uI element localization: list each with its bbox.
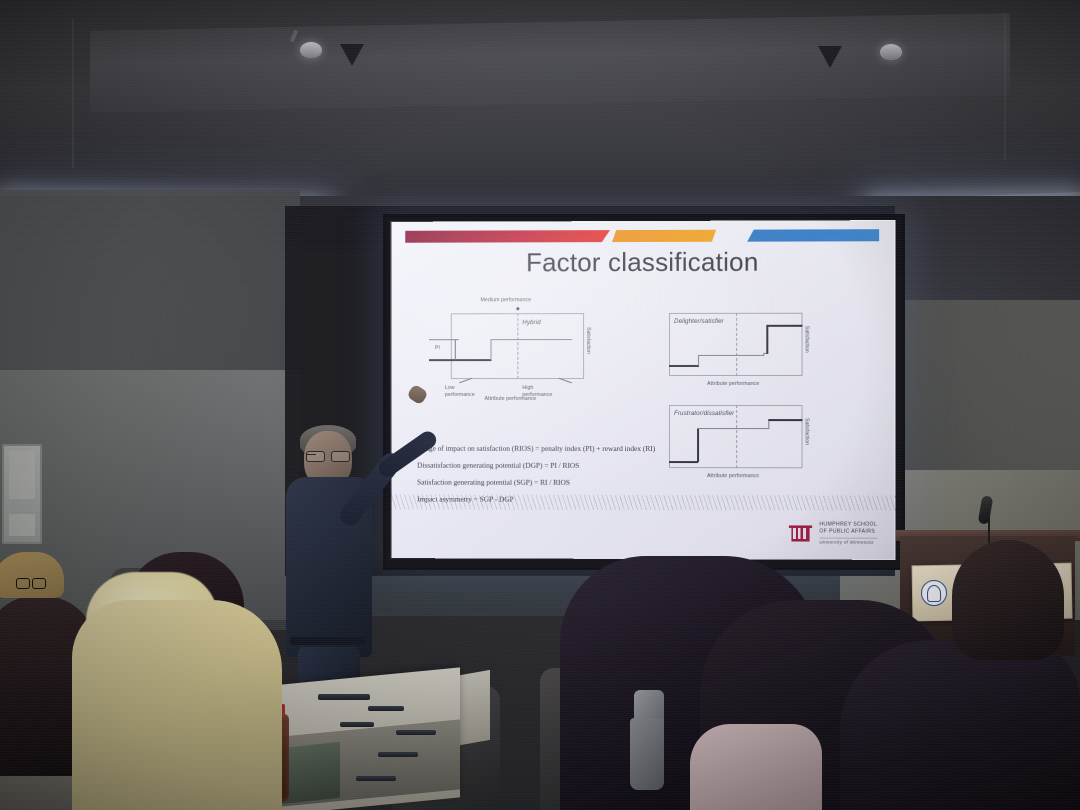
slide-title: Factor classification xyxy=(391,246,895,278)
desk-microphone-3 xyxy=(396,730,436,735)
presentation-slide: Factor classification Medium performance… xyxy=(391,220,895,560)
university-of-minnesota-m-logo xyxy=(787,522,813,544)
umn-line2: OF PUBLIC AFFAIRS xyxy=(819,529,877,537)
chart-frustrator-segment-3 xyxy=(768,419,802,421)
chart-delighter-curve-label: Delighter/satisfier xyxy=(674,318,724,325)
chart-hybrid-pi-label: PI xyxy=(435,345,440,351)
slide-hatched-band xyxy=(391,494,895,510)
presenter xyxy=(276,425,380,715)
spotlight-right xyxy=(880,44,902,60)
presenter-belt xyxy=(290,637,366,645)
umn-line1: HUMPHREY SCHOOL xyxy=(819,521,877,529)
banner-band-red xyxy=(405,230,610,243)
chart-frustrator-curve-label: Frustrator/dissatisfier xyxy=(674,410,734,417)
chart-hybrid-pi-bracket xyxy=(455,339,456,360)
formula-rios: Range of impact on satisfaction (RIOS) =… xyxy=(417,445,847,453)
slide-top-banner xyxy=(405,229,879,243)
chart-hybrid-left-tick-label: Low performance xyxy=(445,385,483,398)
formula-dgp: Dissatisfaction generating potential (DG… xyxy=(417,462,847,470)
chart-delighter-riser-1 xyxy=(698,355,699,366)
chart-hybrid-x-axis-label: Attribute performance xyxy=(485,396,537,402)
chart-delighter-segment-2 xyxy=(698,355,764,356)
ceiling-speaker-right xyxy=(818,46,842,68)
ceiling-seam-right xyxy=(1004,14,1006,160)
chart-frustrator-y-axis-label: Satisfaction xyxy=(804,418,810,445)
spotlight-left xyxy=(300,42,322,58)
desk-microphone-4 xyxy=(378,752,418,757)
chart-delighter-medium-line xyxy=(736,313,737,376)
slide-footer-logo: HUMPHREY SCHOOL OF PUBLIC AFFAIRS Univer… xyxy=(787,521,877,545)
ceiling-seam-left xyxy=(72,18,74,168)
formula-sgp: Satisfaction generating potential (SGP) … xyxy=(417,478,847,486)
banner-logo-circular xyxy=(921,580,947,606)
banner-band-orange xyxy=(612,230,716,242)
chart-hybrid-medium-line xyxy=(517,313,518,379)
chart-delighter-y-axis-label: Satisfaction xyxy=(804,326,810,353)
chart-hybrid-segment-low xyxy=(429,359,492,361)
chart-delighter-segment-1 xyxy=(669,365,699,367)
chart-hybrid-top-marker xyxy=(516,307,519,310)
umn-wordmark: HUMPHREY SCHOOL OF PUBLIC AFFAIRS Univer… xyxy=(819,521,877,545)
chart-hybrid-y-axis-label: Satisfaction xyxy=(585,327,591,354)
chart-hybrid: Medium performance Hybrid PI Low perform… xyxy=(451,313,584,379)
chart-hybrid-riser xyxy=(491,339,492,360)
chart-delighter-segment-4 xyxy=(766,325,802,327)
desk-microphone-6 xyxy=(318,694,370,700)
notice-board-sheet-lower xyxy=(9,514,35,536)
chart-hybrid-segment-high xyxy=(491,339,573,340)
projection-screen: Factor classification Medium performance… xyxy=(383,214,905,570)
chart-hybrid-top-label: Medium performance xyxy=(481,297,532,303)
audience-person-left-hat xyxy=(0,552,64,598)
audience-pink-garment xyxy=(690,724,822,810)
banner-band-blue xyxy=(747,229,879,241)
desk-microphone-1 xyxy=(368,706,404,711)
notice-board-sheet-upper xyxy=(9,451,35,499)
audience-person-far-right xyxy=(952,540,1064,660)
presenter-glasses-icon xyxy=(306,451,350,460)
chart-delighter-riser-3 xyxy=(766,325,768,354)
audience-person-foreground-right xyxy=(840,640,1080,810)
desk-microphone-2 xyxy=(340,722,374,727)
chart-delighter: Delighter/satisfier Attribute performanc… xyxy=(669,313,803,376)
audience-glasses-icon xyxy=(16,578,46,587)
thermos xyxy=(630,718,664,790)
umn-line3: University of Minnesota xyxy=(819,537,877,546)
chart-delighter-x-axis-label: Attribute performance xyxy=(707,381,759,387)
chart-hybrid-curve-label: Hybrid xyxy=(522,319,540,326)
lecture-room-photo: Factor classification Medium performance… xyxy=(0,0,1080,810)
presenter-glasses-bridge xyxy=(306,454,316,455)
wall-notice-board xyxy=(2,444,42,544)
desk-microphone-5 xyxy=(356,776,396,781)
audience-cream-puffer-coat xyxy=(72,600,282,810)
chart-frustrator-segment-2 xyxy=(697,428,769,429)
ceiling-speaker-left xyxy=(340,44,364,66)
